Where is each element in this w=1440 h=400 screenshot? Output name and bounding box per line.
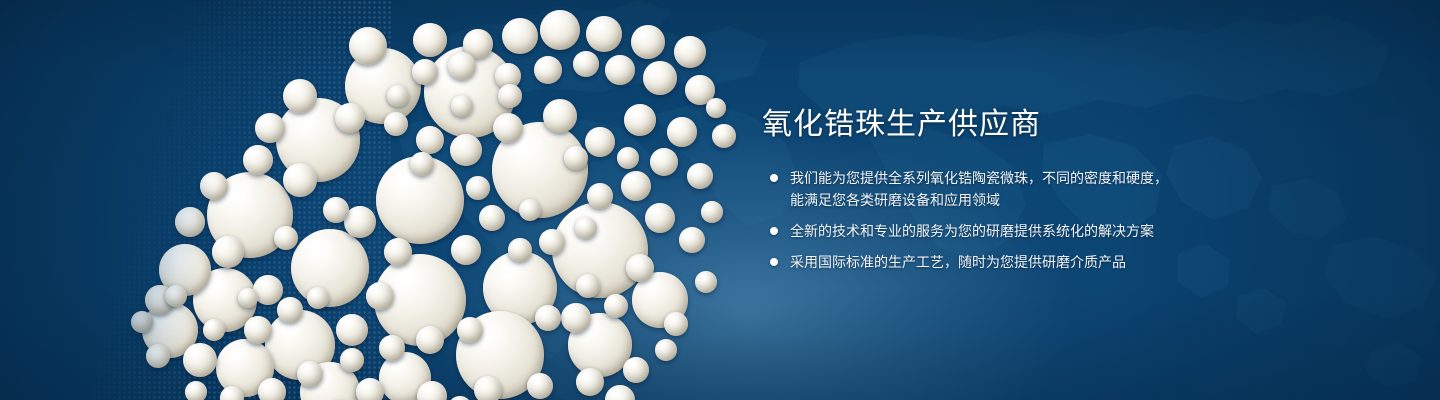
ceramic-bead <box>645 203 675 233</box>
ceramic-bead <box>238 288 258 308</box>
ceramic-bead <box>540 10 580 50</box>
ceramic-bead <box>586 16 622 52</box>
list-item: 我们能为您提供全系列氧化锆陶瓷微珠，不同的密度和硬度， 能满足您各类研磨设备和应… <box>762 167 1322 211</box>
list-item-line: 全新的技术和专业的服务为您的研磨提供系统化的解决方案 <box>790 220 1322 242</box>
ceramic-bead <box>643 61 677 95</box>
ceramic-bead <box>417 381 447 400</box>
ceramic-bead <box>534 56 562 84</box>
list-item-line: 能满足您各类研磨设备和应用领域 <box>790 189 1322 211</box>
ceramic-bead <box>413 23 447 57</box>
ceramic-bead <box>539 229 565 255</box>
ceramic-bead <box>650 148 678 176</box>
ceramic-bead <box>655 339 677 361</box>
ceramic-bead <box>624 104 656 136</box>
ceramic-bead <box>617 147 639 169</box>
ceramic-bead <box>451 95 473 117</box>
ceramic-bead <box>631 25 665 59</box>
ceramic-bead <box>474 376 502 400</box>
ceramic-bead <box>349 27 387 65</box>
ceramic-bead <box>410 152 434 176</box>
ceramic-bead <box>457 317 483 343</box>
ceramic-bead <box>587 183 613 209</box>
ceramic-bead <box>416 326 444 354</box>
ceramic-bead <box>626 254 654 282</box>
ceramic-bead <box>146 344 170 368</box>
ceramic-bead <box>340 348 364 372</box>
ceramic-bead <box>387 85 409 107</box>
ceramic-bead <box>493 113 523 143</box>
ceramic-bead <box>450 134 482 166</box>
ceramic-bead <box>679 227 705 253</box>
ceramic-bead <box>674 36 706 68</box>
ceramic-bead <box>448 52 476 80</box>
page-title: 氧化锆珠生产供应商 <box>762 106 1322 144</box>
ceramic-bead <box>519 199 541 221</box>
ceramic-bead <box>183 343 217 377</box>
ceramic-bead <box>706 98 726 118</box>
ceramic-bead <box>274 226 298 250</box>
ceramic-bead <box>356 378 384 400</box>
ceramic-bead <box>621 171 651 201</box>
ceramic-bead <box>508 238 532 262</box>
ceramic-bead <box>323 197 349 223</box>
ceramic-bead <box>664 312 688 336</box>
ceramic-bead <box>416 126 444 154</box>
ceramic-bead <box>687 163 713 189</box>
ceramic-bead <box>203 319 225 341</box>
ceramic-bead <box>552 202 648 298</box>
ceramic-bead <box>131 311 153 333</box>
ceramic-bead <box>701 201 723 223</box>
ceramic-bead <box>585 127 615 157</box>
ceramic-bead <box>448 396 472 400</box>
ceramic-bead <box>564 146 588 170</box>
list-item: 全新的技术和专业的服务为您的研磨提供系统化的解决方案 <box>762 220 1322 242</box>
ceramic-bead <box>283 163 317 197</box>
zirconia-beads-photo <box>0 0 760 400</box>
ceramic-bead <box>576 274 600 298</box>
ceramic-bead <box>695 271 717 293</box>
ceramic-bead <box>258 378 286 400</box>
ceramic-bead <box>502 18 538 54</box>
ceramic-bead <box>200 172 228 200</box>
feature-list: 我们能为您提供全系列氧化锆陶瓷微珠，不同的密度和硬度， 能满足您各类研磨设备和应… <box>762 167 1322 273</box>
ceramic-bead <box>576 368 604 396</box>
hero-banner: 氧化锆珠生产供应商 我们能为您提供全系列氧化锆陶瓷微珠，不同的密度和硬度， 能满… <box>0 0 1440 400</box>
ceramic-bead <box>498 84 522 108</box>
ceramic-bead <box>466 176 490 200</box>
ceramic-bead <box>379 335 405 361</box>
ceramic-bead <box>175 207 205 237</box>
list-item-line: 我们能为您提供全系列氧化锆陶瓷微珠，不同的密度和硬度， <box>790 167 1322 189</box>
ceramic-bead <box>604 294 628 318</box>
ceramic-bead <box>451 235 481 265</box>
ceramic-bead <box>255 113 285 143</box>
ceramic-bead <box>366 282 394 310</box>
ceramic-bead <box>335 103 365 133</box>
ceramic-bead <box>543 99 577 133</box>
ceramic-bead <box>336 314 368 346</box>
ceramic-bead <box>667 117 697 147</box>
ceramic-bead <box>573 51 599 77</box>
ceramic-bead <box>384 238 412 266</box>
ceramic-bead <box>243 145 273 175</box>
ceramic-bead <box>291 229 369 307</box>
ceramic-bead <box>297 361 323 387</box>
ceramic-bead <box>384 112 408 136</box>
ceramic-bead <box>605 55 635 85</box>
list-item-line: 采用国际标准的生产工艺，随时为您提供研磨介质产品 <box>790 251 1322 273</box>
bullet-dot-icon <box>770 227 778 235</box>
ceramic-bead <box>561 303 591 333</box>
ceramic-bead <box>479 205 505 231</box>
ceramic-bead <box>712 124 736 148</box>
ceramic-bead <box>283 79 317 113</box>
ceramic-bead <box>535 305 561 331</box>
ceramic-bead <box>185 381 207 400</box>
ceramic-bead <box>412 59 438 85</box>
ceramic-bead <box>527 373 553 399</box>
ceramic-bead <box>277 297 303 323</box>
ceramic-bead <box>605 385 635 400</box>
ceramic-bead <box>212 236 244 268</box>
banner-copy: 氧化锆珠生产供应商 我们能为您提供全系列氧化锆陶瓷微珠，不同的密度和硬度， 能满… <box>762 106 1322 273</box>
ceramic-bead <box>244 316 272 344</box>
ceramic-bead <box>575 217 597 239</box>
ceramic-bead <box>623 357 649 383</box>
ceramic-bead <box>165 285 187 307</box>
ceramic-bead <box>307 287 329 309</box>
bullet-dot-icon <box>770 174 778 182</box>
list-item: 采用国际标准的生产工艺，随时为您提供研磨介质产品 <box>762 251 1322 273</box>
bullet-dot-icon <box>770 258 778 266</box>
